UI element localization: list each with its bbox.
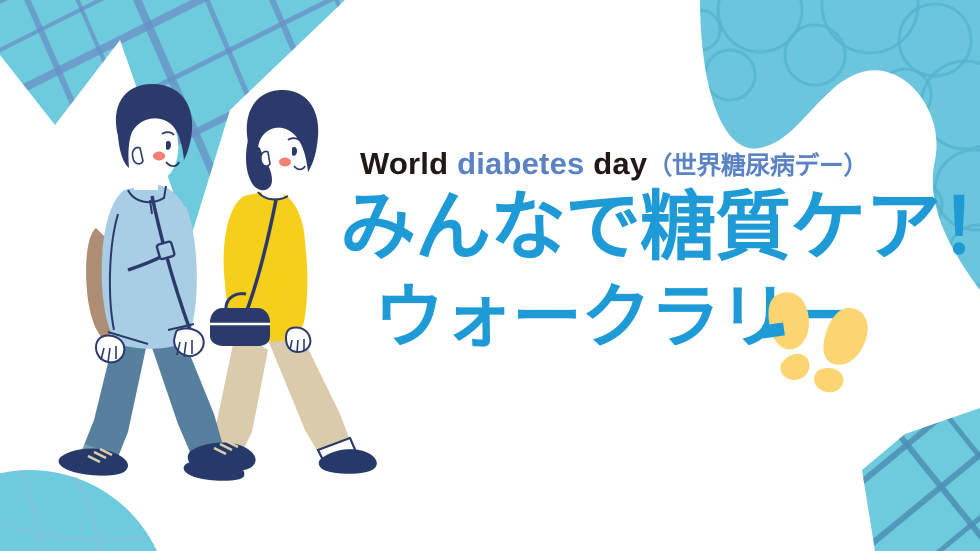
subtitle-day: day bbox=[593, 146, 647, 181]
subtitle-row: World diabetes day（世界糖尿病デー） bbox=[360, 148, 868, 179]
subtitle-japanese-parenthetical: （世界糖尿病デー） bbox=[647, 152, 868, 180]
subtitle-diabetes: diabetes bbox=[457, 146, 584, 181]
headline-line-1: みんなで糖質ケア！ bbox=[340, 190, 980, 266]
subtitle-world: World bbox=[360, 146, 448, 181]
poster-canvas: World diabetes day（世界糖尿病デー） みんなで糖質ケア！ ウォ… bbox=[0, 0, 980, 551]
footprints-icon bbox=[762, 286, 874, 394]
